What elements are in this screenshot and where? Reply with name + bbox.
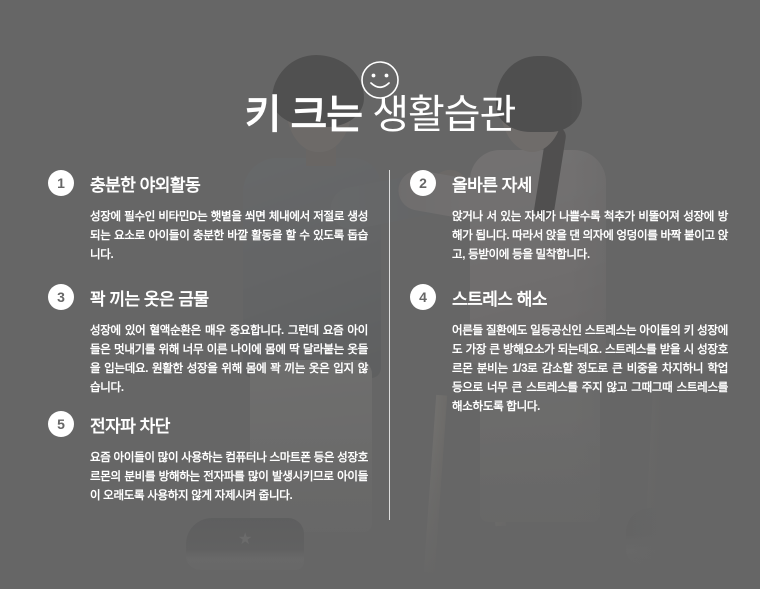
tip-body: 앉거나 서 있는 자세가 나쁠수록 척추가 비뚤어져 성장에 방해가 됩니다. … (452, 208, 728, 265)
tip-header: 3 꽉 끼는 옷은 금물 (48, 284, 368, 314)
tip-body: 성장에 필수인 비타민D는 햇볕을 쐬면 체내에서 저절로 생성되는 요소로 아… (90, 208, 368, 265)
tip-number-badge: 2 (410, 170, 436, 196)
tip-title: 꽉 끼는 옷은 금물 (90, 285, 209, 310)
tip-number-badge: 5 (48, 411, 74, 437)
infographic-poster: ★ 키 크는 생활습관 1 충분한 야외활 (0, 0, 760, 589)
tips-list: 1 충분한 야외활동 성장에 필수인 비타민D는 햇볕을 쐬면 체내에서 저절로… (0, 0, 760, 589)
tip-title: 올바른 자세 (452, 171, 532, 196)
tip-number-badge: 1 (48, 170, 74, 196)
tip-header: 4 스트레스 해소 (410, 284, 728, 314)
tip-body: 성장에 있어 혈액순환은 매우 중요합니다. 그런데 요즘 아이들은 멋내기를 … (90, 322, 368, 398)
tip-title: 충분한 야외활동 (90, 171, 200, 196)
tip-header: 2 올바른 자세 (410, 170, 728, 200)
tip-item-5: 5 전자파 차단 요즘 아이들이 많이 사용하는 컴퓨터나 스마트폰 등은 성장… (48, 411, 368, 506)
tip-header: 5 전자파 차단 (48, 411, 368, 441)
tip-item-2: 2 올바른 자세 앉거나 서 있는 자세가 나쁠수록 척추가 비뚤어져 성장에 … (410, 170, 728, 265)
tip-title: 스트레스 해소 (452, 285, 547, 310)
tip-item-4: 4 스트레스 해소 어른들 질환에도 일등공신인 스트레스는 아이들의 키 성장… (410, 284, 728, 417)
tip-number-badge: 4 (410, 284, 436, 310)
tip-item-1: 1 충분한 야외활동 성장에 필수인 비타민D는 햇볕을 쐬면 체내에서 저절로… (48, 170, 368, 265)
tip-item-3: 3 꽉 끼는 옷은 금물 성장에 있어 혈액순환은 매우 중요합니다. 그런데 … (48, 284, 368, 398)
tip-body: 요즘 아이들이 많이 사용하는 컴퓨터나 스마트폰 등은 성장호르몬의 분비를 … (90, 449, 368, 506)
tip-header: 1 충분한 야외활동 (48, 170, 368, 200)
poster-content: 키 크는 생활습관 1 충분한 야외활동 성장에 필수인 비타민D는 햇볕을 쐬… (0, 0, 760, 589)
tip-body: 어른들 질환에도 일등공신인 스트레스는 아이들의 키 성장에도 가장 큰 방해… (452, 322, 728, 417)
tip-title: 전자파 차단 (90, 412, 170, 437)
tip-number-badge: 3 (48, 284, 74, 310)
